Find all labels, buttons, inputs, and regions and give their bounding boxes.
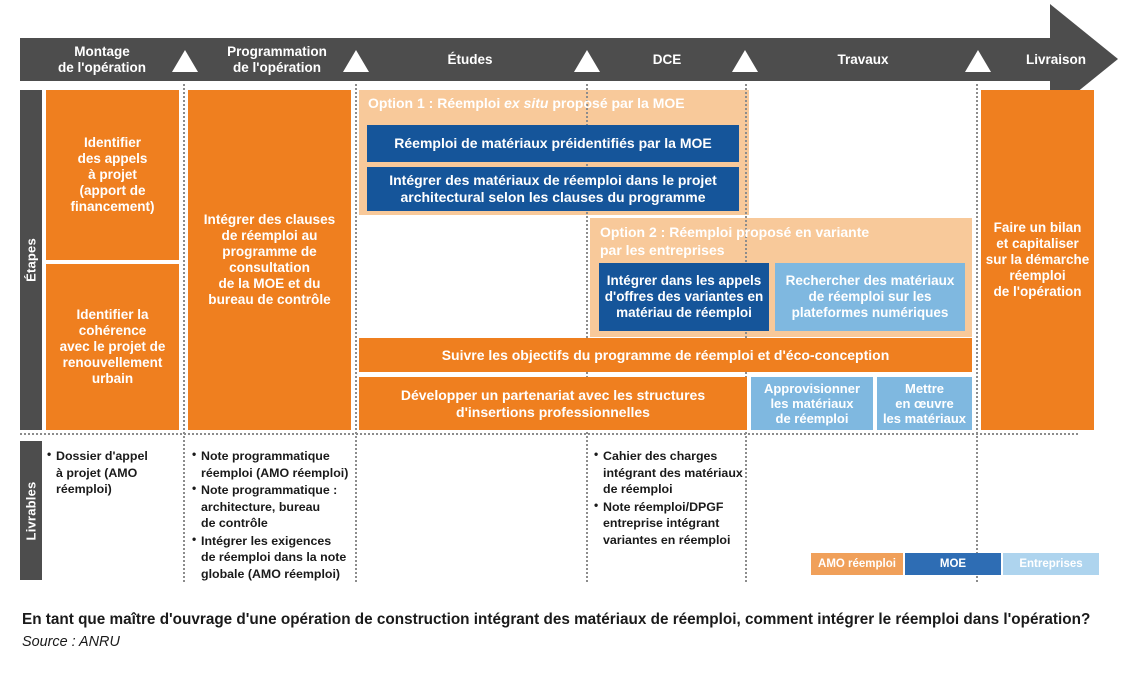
list-item: Note programmatique : architecture, bure…	[192, 482, 350, 532]
list-item: Intégrer les exigences de réemploi dans …	[192, 533, 350, 583]
phase-livraison[interactable]: Livraison	[994, 38, 1118, 81]
phase-travaux[interactable]: Travaux	[764, 38, 962, 81]
etapes-livrables-divider	[20, 433, 1078, 435]
list-item: Note réemploi/DPGF entreprise intégrant …	[594, 499, 754, 549]
step-approvisionner-materiaux[interactable]: Approvisionner les matériaux de réemploi	[751, 377, 873, 430]
livrables-programmation: Note programmatique réemploi (AMO réempl…	[192, 448, 350, 583]
phase-divider-triangle-icon-4	[732, 50, 758, 72]
column-separator-5	[976, 84, 978, 582]
phase-montage[interactable]: Montage de l'opération	[22, 38, 182, 81]
column-separator-1	[183, 84, 185, 582]
step-suivre-objectifs[interactable]: Suivre les objectifs du programme de rée…	[359, 338, 972, 372]
step-identifier-coherence[interactable]: Identifier la cohérence avec le projet d…	[46, 264, 179, 430]
legend-item-moe[interactable]: MOE	[905, 553, 1001, 575]
list-item: Cahier des charges intégrant des matéria…	[594, 448, 754, 498]
option1-title-italic: ex situ	[504, 95, 548, 111]
row-label-etapes: Étapes	[20, 90, 42, 430]
column-separator-2	[355, 84, 357, 582]
legend-item-entreprises[interactable]: Entreprises	[1003, 553, 1099, 575]
option2-item-rechercher-plateformes[interactable]: Rechercher des matériaux de réemploi sur…	[775, 263, 965, 331]
option2-item-integrer-appels-offres[interactable]: Intégrer dans les appels d'offres des va…	[599, 263, 769, 331]
livrables-montage-list: Dossier d'appel à projet (AMO réemploi)	[47, 448, 172, 498]
legend-item-amo-reemploi[interactable]: AMO réemploi	[811, 553, 903, 575]
phase-etudes[interactable]: Études	[380, 38, 560, 81]
list-item: Dossier d'appel à projet (AMO réemploi)	[47, 448, 172, 498]
phase-divider-triangle-icon-5	[965, 50, 991, 72]
phase-programmation[interactable]: Programmation de l'opération	[198, 38, 356, 81]
livrables-montage: Dossier d'appel à projet (AMO réemploi)	[47, 448, 172, 499]
option1-title-after: proposé par la MOE	[548, 95, 684, 111]
phase-dce[interactable]: DCE	[604, 38, 730, 81]
livrables-dce: Cahier des charges intégrant des matéria…	[594, 448, 754, 549]
livrables-dce-list: Cahier des charges intégrant des matéria…	[594, 448, 754, 548]
caption-question: En tant que maître d'ouvrage d'une opéra…	[22, 610, 1126, 630]
option1-title-before: Option 1 : Réemploi	[368, 95, 504, 111]
legend: AMO réemploi MOE Entreprises	[811, 553, 1099, 575]
caption-block: En tant que maître d'ouvrage d'une opéra…	[22, 610, 1126, 650]
option1-item-integrer-materiaux[interactable]: Intégrer des matériaux de réemploi dans …	[367, 167, 739, 211]
option1-item-reemploi-preidentifies[interactable]: Réemploi de matériaux préidentifiés par …	[367, 125, 739, 162]
option2-title: Option 2 : Réemploi proposé en variante …	[600, 224, 970, 259]
infographic-canvas: Montage de l'opération Programmation de …	[0, 0, 1138, 697]
step-faire-bilan-capitaliser[interactable]: Faire un bilan et capitaliser sur la dém…	[981, 90, 1094, 430]
row-label-livrables: Livrables	[20, 441, 42, 580]
option1-title: Option 1 : Réemploi ex situ proposé par …	[368, 95, 748, 113]
step-mettre-en-oeuvre[interactable]: Mettre en œuvre les matériaux	[877, 377, 972, 430]
step-identifier-appels-projet[interactable]: Identifier des appels à projet (apport d…	[46, 90, 179, 260]
list-item: Note programmatique réemploi (AMO réempl…	[192, 448, 350, 481]
phase-divider-triangle-icon-3	[574, 50, 600, 72]
livrables-programmation-list: Note programmatique réemploi (AMO réempl…	[192, 448, 350, 582]
step-developper-partenariat[interactable]: Développer un partenariat avec les struc…	[359, 377, 747, 430]
phase-divider-triangle-icon-2	[343, 50, 369, 72]
phase-divider-triangle-icon-1	[172, 50, 198, 72]
row-label-livrables-text: Livrables	[24, 481, 39, 540]
caption-source: Source : ANRU	[22, 634, 1126, 650]
row-label-etapes-text: Étapes	[24, 238, 39, 282]
step-integrer-clauses-reemploi[interactable]: Intégrer des clauses de réemploi au prog…	[188, 90, 351, 430]
